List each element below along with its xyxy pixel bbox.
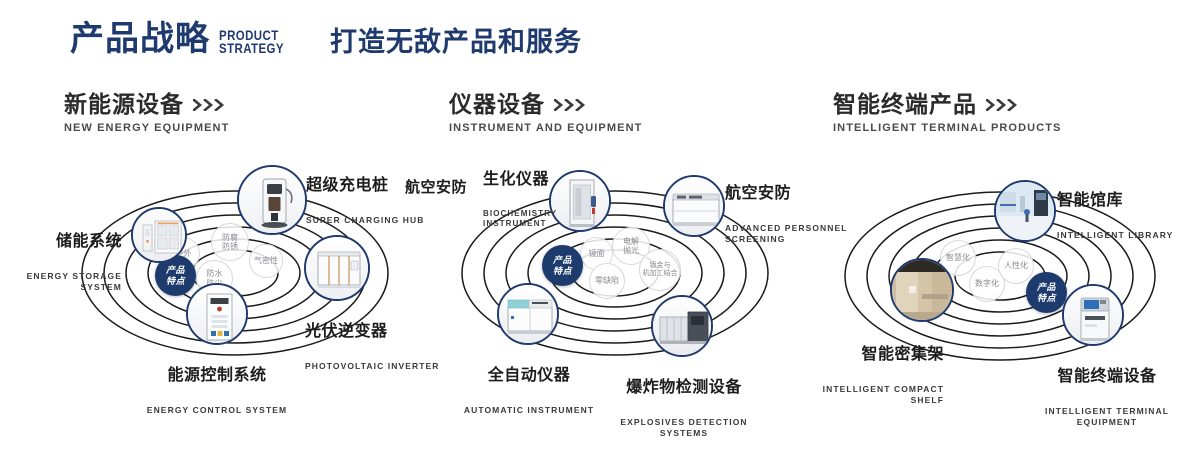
cluster-instrument-and-equipment: 镜面 电解 抛光 零缺陷 钣金与 机加工结合 产品 特点 — [435, 155, 795, 385]
explosives-detection-photo — [653, 297, 711, 355]
feature-bubble: 气密性 — [249, 244, 283, 278]
section-label-en: INSTRUMENT AND EQUIPMENT — [449, 122, 642, 134]
energy-control-cabinet-photo — [188, 285, 246, 343]
product-features-badge: 产品 特点 — [542, 245, 583, 286]
node-energy-control-system[interactable] — [186, 283, 248, 345]
product-strategy-infographic: 产品战略 PRODUCT STRATEGY 打造无敌产品和服务 新能源设备 NE… — [0, 0, 1200, 422]
caption-intelligent-compact-shelf: 智能密集架 INTELLIGENT COMPACT SHELF — [792, 328, 944, 424]
section-title-intelligent-terminal: 智能终端产品 INTELLIGENT TERMINAL PRODUCTS — [833, 92, 1061, 134]
node-photovoltaic-inverter[interactable] — [304, 235, 370, 301]
page-title-english: PRODUCT STRATEGY — [219, 29, 284, 55]
node-intelligent-terminal-equipment[interactable] — [1062, 284, 1124, 346]
page-title: 产品战略 — [70, 22, 210, 56]
compact-shelf-photo — [892, 260, 952, 320]
automatic-instrument-photo — [499, 285, 557, 343]
energy-storage-cabinet-photo — [133, 209, 185, 261]
section-label-en: INTELLIGENT TERMINAL PRODUCTS — [833, 122, 1061, 134]
feature-bubble: 钣金与 机加工结合 — [639, 249, 681, 291]
node-super-charging-hub[interactable] — [237, 165, 307, 235]
product-features-badge: 产品 特点 — [1026, 272, 1067, 313]
ev-charging-pile-photo — [239, 167, 305, 233]
caption-explosives-detection-systems: 爆炸物检测设备 EXPLOSIVES DETECTION SYSTEMS — [599, 361, 769, 457]
node-advanced-personnel-screening[interactable] — [663, 175, 725, 237]
cluster-intelligent-terminal-products: 智慧化 数字化 人性化 产品 特点 — [822, 160, 1182, 390]
page-header: 产品战略 PRODUCT STRATEGY — [70, 22, 298, 56]
caption-aviation-security-left: 航空安防 — [405, 161, 485, 214]
node-explosives-detection-systems[interactable] — [651, 295, 713, 357]
node-intelligent-compact-shelf[interactable] — [890, 258, 954, 322]
section-title-new-energy: 新能源设备 NEW ENERGY EQUIPMENT — [64, 92, 229, 134]
section-label-cn: 新能源设备 — [64, 92, 184, 117]
section-title-instrument: 仪器设备 INSTRUMENT AND EQUIPMENT — [449, 92, 642, 134]
feature-bubble: 人性化 — [998, 248, 1034, 284]
personnel-screening-machine-photo — [665, 177, 723, 235]
node-automatic-instrument[interactable] — [497, 283, 559, 345]
feature-bubble: 零缺陷 — [589, 263, 625, 299]
caption-automatic-instrument: 全自动仪器 AUTOMATIC INSTRUMENT — [449, 349, 609, 434]
section-label-cn: 智能终端产品 — [833, 92, 977, 117]
section-label-cn: 仪器设备 — [449, 92, 545, 117]
caption-biochemistry-instrument: 生化仪器 BIOCHEMISTRY INSTRUMENT — [483, 153, 603, 247]
triple-chevron-right-icon — [986, 99, 1020, 111]
section-label-en: NEW ENERGY EQUIPMENT — [64, 122, 229, 134]
node-intelligent-library[interactable] — [994, 180, 1056, 242]
triple-chevron-right-icon — [554, 99, 588, 111]
pv-inverter-cabinet-photo — [306, 237, 368, 299]
caption-energy-storage-system: 储能系统 ENERGY STORAGE SYSTEM — [0, 215, 122, 311]
cluster-new-energy-equipment: 防腐 防锈 户外 防水 防尘 气密性 产品 特点 — [55, 155, 415, 385]
caption-intelligent-library: 智能馆库 INTELLIGENT LIBRARY — [1057, 174, 1197, 259]
self-service-kiosk-photo — [1064, 286, 1122, 344]
node-energy-storage-system[interactable] — [131, 207, 187, 263]
caption-intelligent-terminal-equipment: 智能终端设备 INTELLIGENT TERMINAL EQUIPMENT — [1017, 350, 1197, 446]
intelligent-library-photo — [996, 182, 1054, 240]
page-subtitle: 打造无敌产品和服务 — [330, 26, 582, 58]
triple-chevron-right-icon — [193, 99, 227, 111]
caption-energy-control-system: 能源控制系统 ENERGY CONTROL SYSTEM — [142, 349, 292, 434]
